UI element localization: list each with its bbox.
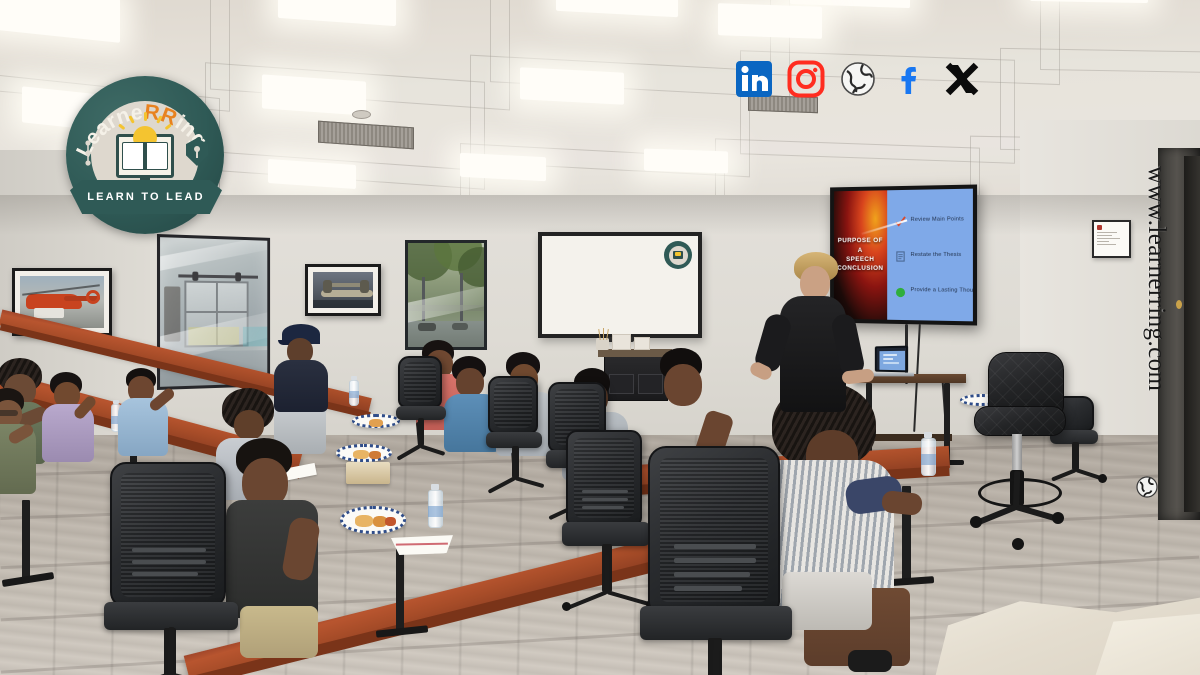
document-icon bbox=[895, 249, 906, 260]
globe-watermark-icon bbox=[1136, 476, 1158, 498]
tissue-box bbox=[634, 337, 650, 350]
slide-title-panel: PURPOSE OF A SPEECH CONCLUSION bbox=[834, 190, 887, 319]
food-plate bbox=[340, 506, 406, 534]
stool-foot-ring bbox=[978, 478, 1062, 508]
network-node-icon bbox=[84, 138, 106, 168]
logo-tagline-ribbon: LEARN TO LEAD bbox=[70, 180, 222, 214]
snack-box bbox=[346, 462, 390, 484]
photo-canvas: PURPOSE OF A SPEECH CONCLUSION Review Ma… bbox=[0, 0, 1200, 675]
book-icon bbox=[122, 142, 144, 170]
presenter-dress bbox=[780, 296, 846, 412]
slide-bullet-text: Review Main Points bbox=[911, 216, 964, 223]
food-plate bbox=[352, 414, 400, 428]
certificate-frame bbox=[1092, 220, 1131, 258]
slide-bullets-panel: Review Main Points Restate the Thesis Pr… bbox=[887, 189, 973, 322]
website-globe-icon[interactable] bbox=[839, 60, 877, 98]
slide-bullet-row: Provide a Lasting Thought bbox=[895, 285, 967, 297]
facebook-icon[interactable] bbox=[891, 60, 929, 98]
slide-title: PURPOSE OF A SPEECH CONCLUSION bbox=[833, 236, 887, 274]
slide-bullet-row: Restate the Thesis bbox=[895, 249, 967, 260]
x-twitter-icon[interactable] bbox=[943, 60, 981, 98]
cabinet-top bbox=[598, 349, 672, 357]
social-icon-bar bbox=[735, 60, 981, 98]
tissue-box bbox=[612, 334, 631, 350]
ceiling-light-panel bbox=[718, 3, 822, 39]
ceiling-light-panel bbox=[520, 67, 624, 104]
green-dot-icon bbox=[895, 285, 906, 296]
stool-cushion bbox=[974, 406, 1066, 436]
logo-tagline: LEARN TO LEAD bbox=[87, 191, 205, 203]
website-url: www.learnerring.com bbox=[1142, 166, 1170, 391]
presenter-desk-shelf bbox=[866, 434, 952, 441]
presentation-display: PURPOSE OF A SPEECH CONCLUSION Review Ma… bbox=[830, 184, 977, 325]
slide-bullet-text: Restate the Thesis bbox=[911, 252, 962, 258]
instagram-icon[interactable] bbox=[787, 60, 825, 98]
food-plate bbox=[336, 444, 392, 462]
exterior-window bbox=[405, 240, 487, 350]
osprey-photo bbox=[305, 264, 381, 316]
door-panel[interactable] bbox=[1184, 156, 1200, 512]
slide-bullet-text: Provide a Lasting Thought bbox=[911, 287, 977, 294]
book-icon bbox=[146, 142, 168, 170]
ceiling-light-panel bbox=[460, 153, 546, 182]
linkedin-icon[interactable] bbox=[735, 60, 773, 98]
supply-cabinet bbox=[604, 355, 668, 401]
whiteboard bbox=[538, 232, 702, 338]
table-leg bbox=[22, 500, 30, 580]
ceiling-light-panel bbox=[262, 74, 366, 115]
smoke-detector-icon bbox=[352, 110, 371, 119]
ceiling-light-panel bbox=[644, 149, 728, 174]
door-knob-icon[interactable] bbox=[1176, 300, 1182, 309]
